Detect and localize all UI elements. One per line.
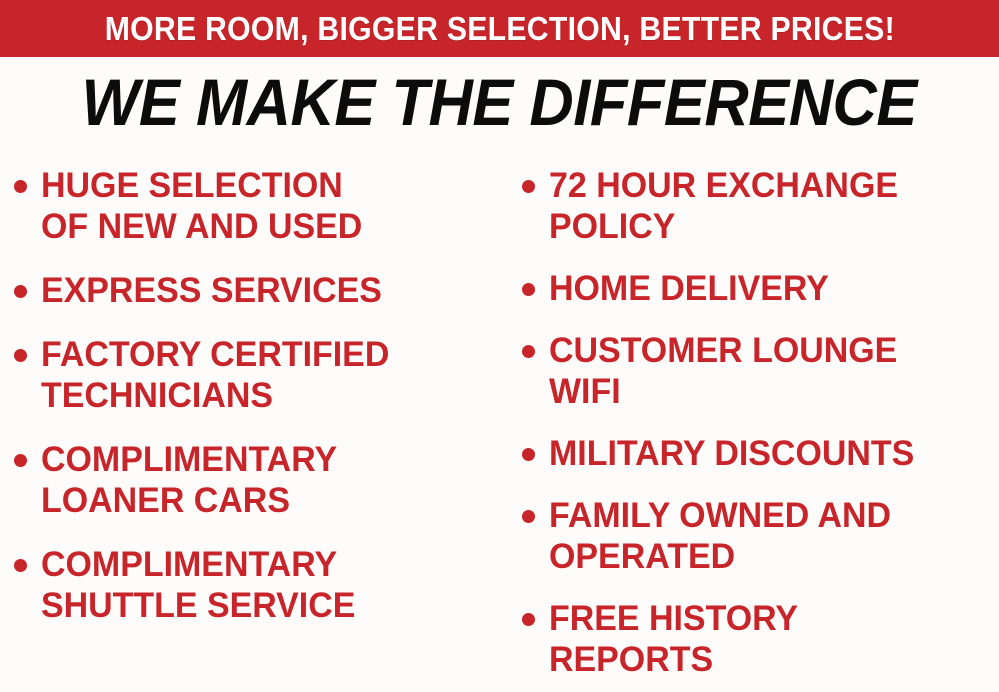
main-headline: WE MAKE THE DIFFERENCE	[82, 69, 917, 135]
list-item-label: MILITARY DISCOUNTS	[549, 433, 914, 474]
list-item: 72 HOUR EXCHANGE POLICY	[522, 165, 999, 247]
bullet-dot-icon	[14, 454, 27, 467]
bullet-dot-icon	[522, 345, 535, 358]
list-item-label: FAMILY OWNED AND OPERATED	[549, 495, 891, 577]
list-item-label: HUGE SELECTION OF NEW AND USED	[41, 165, 362, 247]
list-item-label: 72 HOUR EXCHANGE POLICY	[549, 165, 898, 247]
list-item-label: FACTORY CERTIFIED TECHNICIANS	[41, 334, 389, 416]
main-headline-container: WE MAKE THE DIFFERENCE	[0, 64, 999, 140]
list-item: HUGE SELECTION OF NEW AND USED	[14, 165, 506, 247]
list-item: MILITARY DISCOUNTS	[522, 433, 999, 474]
bullet-dot-icon	[14, 180, 27, 193]
list-item: FACTORY CERTIFIED TECHNICIANS	[14, 334, 506, 416]
list-item-label: EXPRESS SERVICES	[41, 270, 382, 311]
benefits-columns: HUGE SELECTION OF NEW AND USED EXPRESS S…	[0, 155, 999, 692]
bullet-dot-icon	[14, 559, 27, 572]
bullet-dot-icon	[14, 349, 27, 362]
list-item-label: CUSTOMER LOUNGE WIFI	[549, 330, 897, 412]
bullet-dot-icon	[522, 510, 535, 523]
list-item: COMPLIMENTARY LOANER CARS	[14, 439, 506, 521]
list-item-label: FREE HISTORY REPORTS	[549, 598, 798, 680]
list-item-label: COMPLIMENTARY SHUTTLE SERVICE	[41, 544, 355, 626]
top-banner: MORE ROOM, BIGGER SELECTION, BETTER PRIC…	[0, 0, 999, 57]
list-item: CUSTOMER LOUNGE WIFI	[522, 330, 999, 412]
bullet-dot-icon	[522, 613, 535, 626]
bullet-dot-icon	[14, 285, 27, 298]
benefits-column-right: 72 HOUR EXCHANGE POLICY HOME DELIVERY CU…	[506, 155, 999, 692]
list-item: FREE HISTORY REPORTS	[522, 598, 999, 680]
list-item-label: HOME DELIVERY	[549, 268, 829, 309]
bullet-dot-icon	[522, 283, 535, 296]
advertisement-root: MORE ROOM, BIGGER SELECTION, BETTER PRIC…	[0, 0, 999, 692]
list-item: COMPLIMENTARY SHUTTLE SERVICE	[14, 544, 506, 626]
list-item-label: COMPLIMENTARY LOANER CARS	[41, 439, 337, 521]
benefits-column-left: HUGE SELECTION OF NEW AND USED EXPRESS S…	[0, 155, 506, 692]
bullet-dot-icon	[522, 448, 535, 461]
list-item: EXPRESS SERVICES	[14, 270, 506, 311]
list-item: HOME DELIVERY	[522, 268, 999, 309]
list-item: FAMILY OWNED AND OPERATED	[522, 495, 999, 577]
banner-headline-text: MORE ROOM, BIGGER SELECTION, BETTER PRIC…	[104, 12, 894, 45]
bullet-dot-icon	[522, 180, 535, 193]
